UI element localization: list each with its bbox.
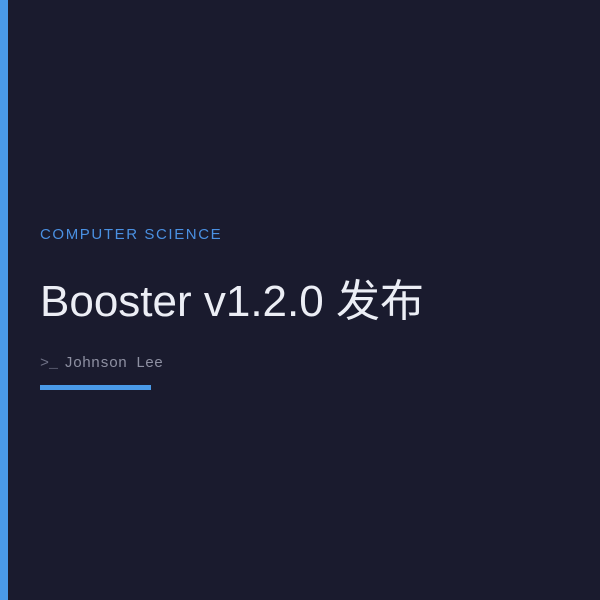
author-byline: >_ Johnson Lee <box>40 354 163 374</box>
card-content: COMPUTER SCIENCE Booster v1.2.0 发布 >_ Jo… <box>40 0 560 600</box>
author-name: Johnson Lee <box>64 354 163 374</box>
left-accent-stripe <box>0 0 8 600</box>
author-underline-bar <box>40 385 151 390</box>
category-label: COMPUTER SCIENCE <box>40 225 222 245</box>
release-announcement-card: COMPUTER SCIENCE Booster v1.2.0 发布 >_ Jo… <box>0 0 600 600</box>
page-title: Booster v1.2.0 发布 <box>40 274 424 330</box>
terminal-prompt-icon: >_ <box>40 354 58 374</box>
